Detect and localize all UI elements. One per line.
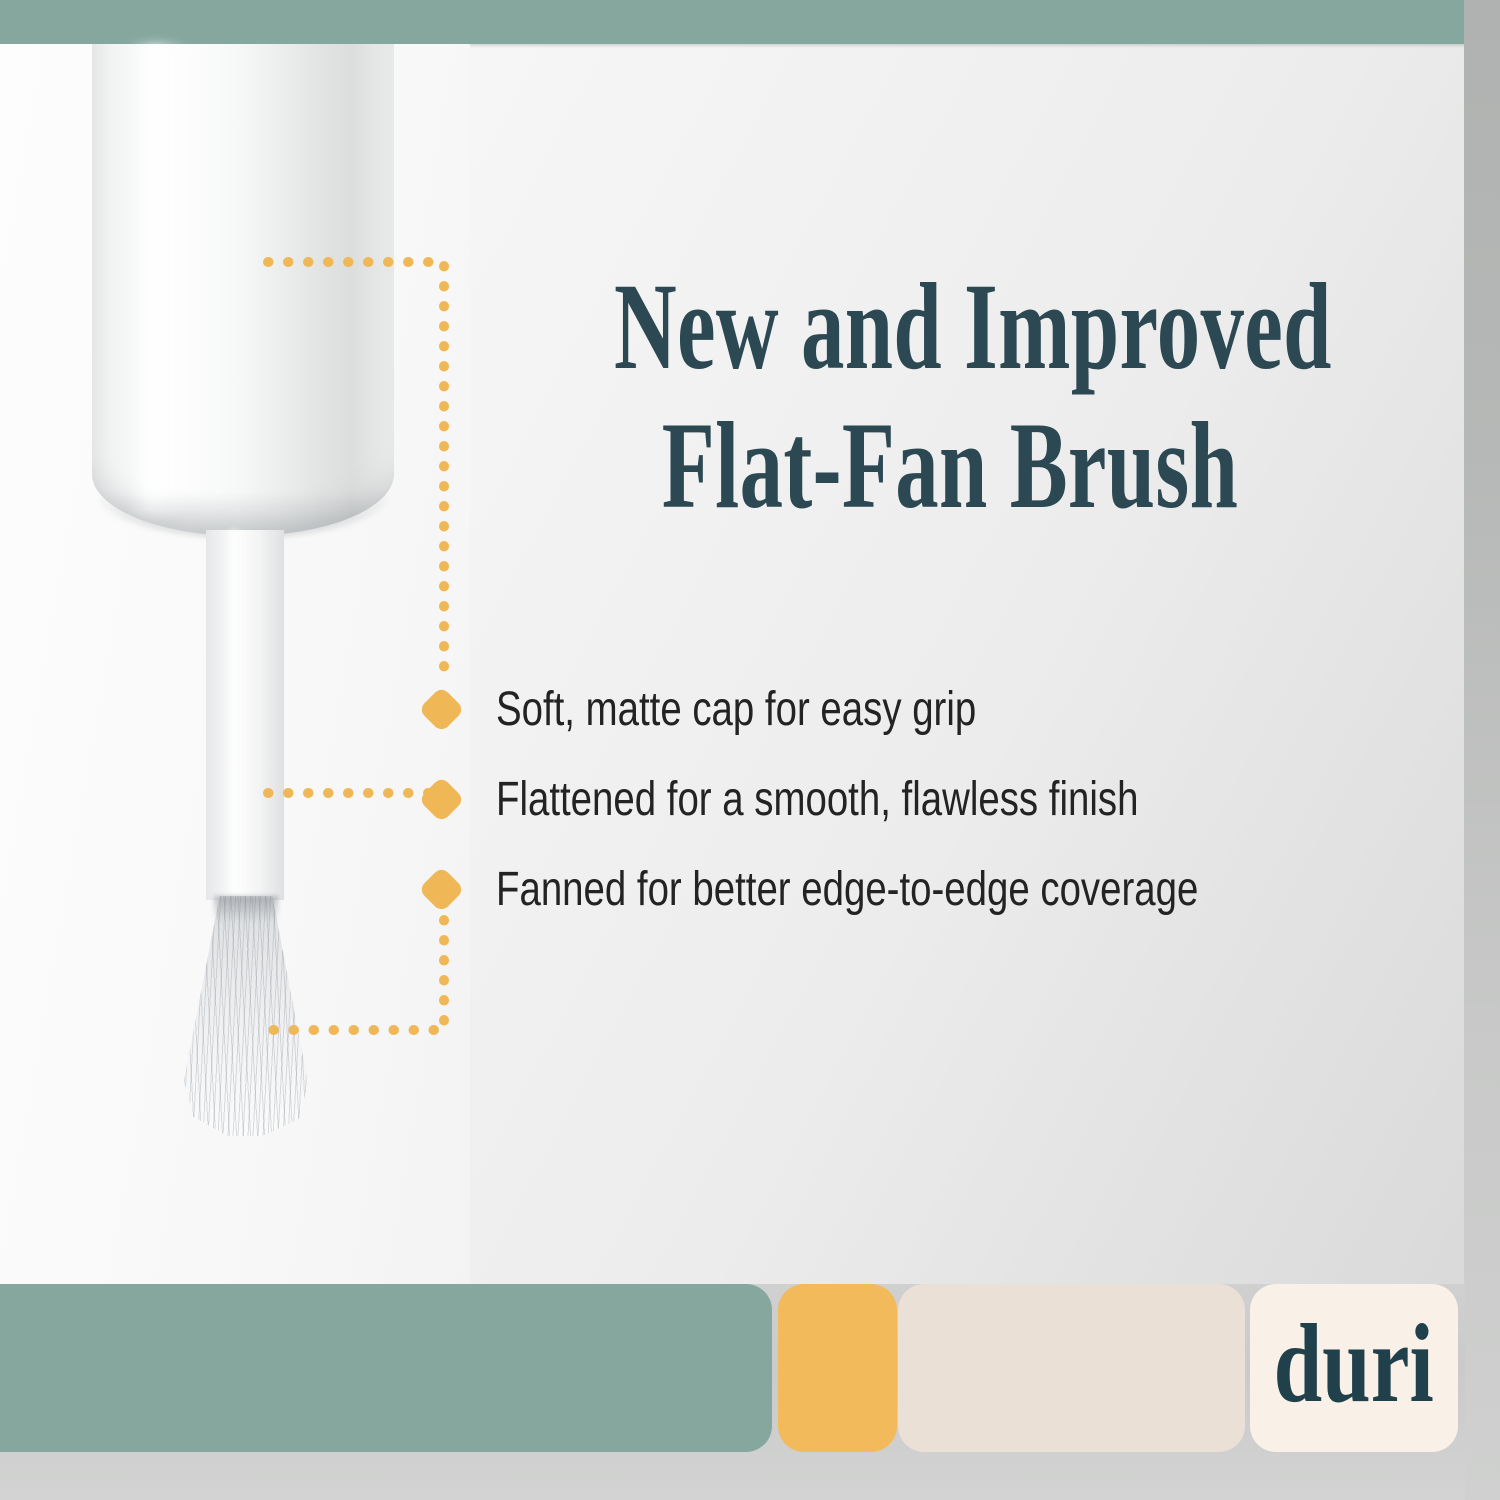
footer-block-beige (898, 1284, 1245, 1452)
feature-label: Fanned for better edge-to-edge coverage (496, 862, 1198, 917)
headline-line-2: Flat-Fan Brush (614, 397, 1286, 536)
brand-logo: duri (1274, 1308, 1434, 1420)
page-title: New and Improved Flat-Fan Brush (614, 258, 1286, 536)
diamond-bullet-icon (418, 686, 465, 733)
cap-highlight (130, 44, 186, 514)
footer-bar: duri (0, 1284, 1465, 1500)
list-item: Soft, matte cap for easy grip (418, 664, 1458, 754)
footer-block-sage (0, 1284, 772, 1452)
brush-bristles (180, 896, 312, 1136)
footer-block-gold (778, 1284, 897, 1452)
list-item: Fanned for better edge-to-edge coverage (418, 844, 1458, 934)
footer-block-cream: duri (1250, 1284, 1458, 1452)
top-accent-bar (0, 0, 1465, 44)
brush-stem-highlight (226, 530, 242, 896)
headline-line-1: New and Improved (614, 258, 1286, 397)
diamond-bullet-icon (418, 776, 465, 823)
bristle-strands-b (180, 896, 312, 1136)
feature-label: Soft, matte cap for easy grip (496, 682, 976, 737)
product-image (0, 44, 470, 1284)
bristle-ferrule-shadow (214, 896, 278, 922)
feature-label: Flattened for a smooth, flawless finish (496, 772, 1138, 827)
right-edge-band (1464, 0, 1500, 1500)
brush-stem (206, 530, 284, 900)
feature-list: Soft, matte cap for easy grip Flattened … (418, 664, 1458, 934)
infographic-page: New and Improved Flat-Fan Brush Soft, ma… (0, 0, 1500, 1500)
list-item: Flattened for a smooth, flawless finish (418, 754, 1458, 844)
diamond-bullet-icon (418, 866, 465, 913)
